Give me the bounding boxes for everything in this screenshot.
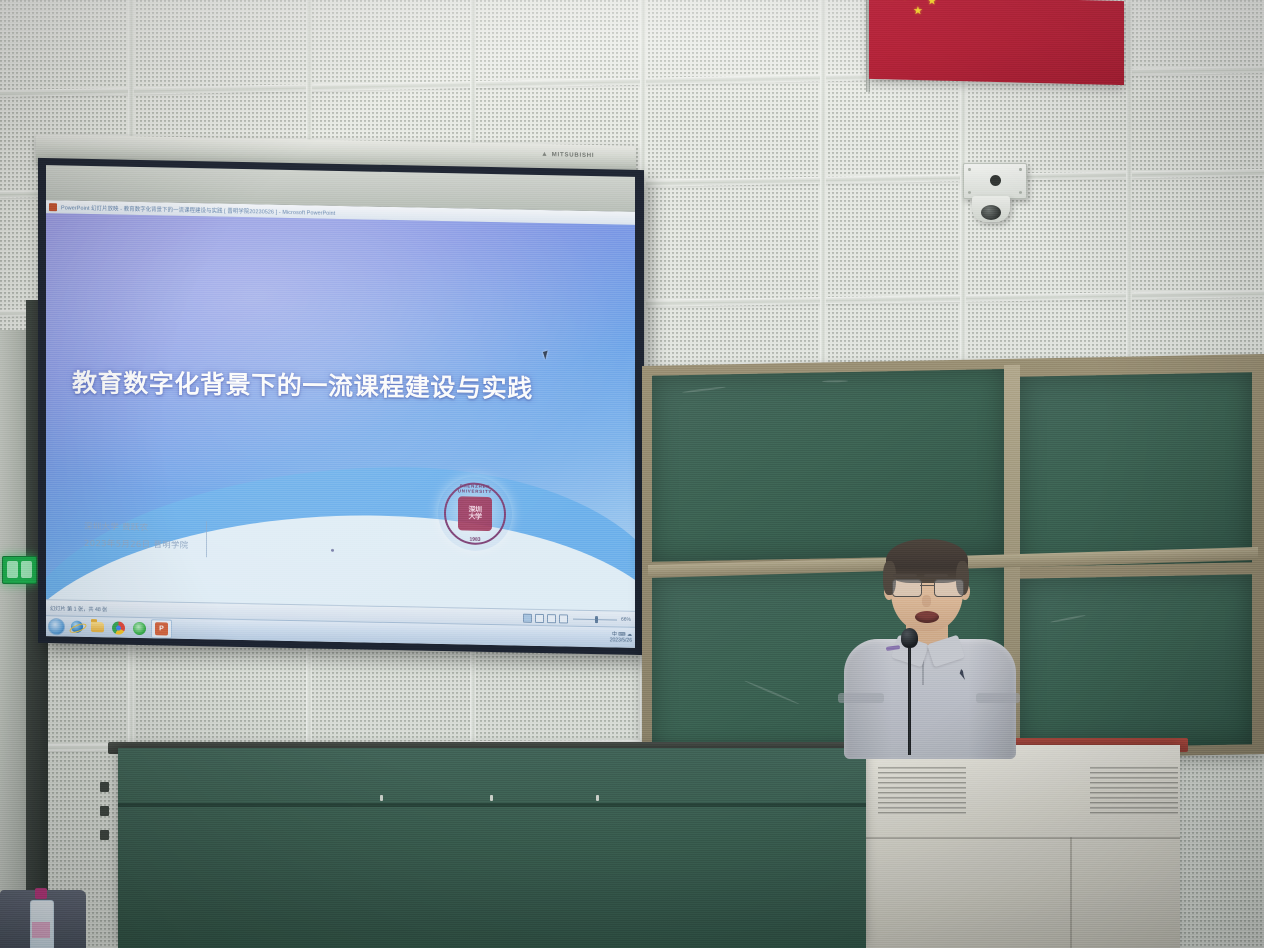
byline-divider xyxy=(206,521,207,557)
emergency-exit-sign xyxy=(2,556,37,584)
projection-screen: PowerPoint 幻灯片放映 - 教育数字化背景下的一流课程建设与实践 [ … xyxy=(38,158,644,655)
view-button-normal[interactable] xyxy=(523,613,532,622)
powerpoint-icon xyxy=(49,203,57,211)
mitsubishi-brand-label: ▲MITSUBISHI xyxy=(541,151,594,159)
taskbar-item-internet-explorer[interactable] xyxy=(67,618,86,635)
camera-mount-bracket xyxy=(963,163,1027,199)
chinese-national-flag: ★ ★ ★ ★ ★ xyxy=(869,0,1124,85)
glasses-icon xyxy=(891,579,963,595)
shenzhen-university-seal: SHENZHEN UNIVERSITY 深圳大学 1983 xyxy=(438,476,512,551)
zoom-slider[interactable] xyxy=(573,615,617,623)
seal-center-mark: 深圳大学 xyxy=(458,496,492,531)
taskbar-item-powerpoint[interactable]: P xyxy=(151,619,172,638)
flag-small-star-3: ★ xyxy=(927,0,937,8)
seal-ring-text: SHENZHEN UNIVERSITY xyxy=(446,483,504,494)
chrome-icon xyxy=(112,621,125,634)
presenter-sleeve-right xyxy=(976,693,1020,703)
presenter xyxy=(836,543,1022,758)
water-bottle-foreground xyxy=(30,888,52,948)
byline-date-venue: 2023年5月26日 晋明学院 xyxy=(84,534,189,552)
seal-outer-ring: SHENZHEN UNIVERSITY 深圳大学 1983 xyxy=(444,482,506,545)
dome-security-camera xyxy=(972,196,1010,222)
glasses-lens-right xyxy=(934,579,964,597)
chalkboard-panel-top-left xyxy=(652,369,1004,562)
bottle-cap xyxy=(35,888,47,899)
podium-speaker-grille-left xyxy=(878,767,966,815)
presenter-sleeve-left xyxy=(838,693,884,703)
podium-panel-edge xyxy=(1070,837,1072,948)
podium-speaker-grille-right xyxy=(1090,767,1178,815)
flag-large-star: ★ xyxy=(885,0,912,6)
start-button[interactable] xyxy=(48,618,65,635)
projected-desktop: PowerPoint 幻灯片放映 - 教育数字化背景下的一流课程建设与实践 [ … xyxy=(46,200,635,648)
camera-lens-icon xyxy=(990,175,1001,186)
lecture-hall-photo: ★ ★ ★ ★ ★ ▲MITSUBISHI PowerPoint 幻灯片 xyxy=(0,0,1264,948)
taskbar-item-chrome[interactable] xyxy=(109,619,128,636)
edge-icon xyxy=(133,621,146,634)
folder-icon xyxy=(91,622,104,632)
byline-affiliation: 深圳大学 费跃农 xyxy=(84,518,189,536)
seal-year: 1983 xyxy=(446,536,504,543)
front-desk-band xyxy=(118,803,866,807)
view-button-reading[interactable] xyxy=(547,614,556,623)
mitsubishi-logo-icon: ▲ xyxy=(541,151,549,158)
presenter-eyebrow-left xyxy=(893,574,917,577)
taskbar-item-edge[interactable] xyxy=(130,619,149,636)
presenter-nose xyxy=(922,595,931,607)
slide-canvas[interactable]: 教育数字化背景下的一流课程建设与实践 SHENZHEN UNIVERSITY 深… xyxy=(46,213,635,612)
slide-byline: 深圳大学 费跃农 2023年5月26日 晋明学院 xyxy=(84,518,189,553)
zoom-slider-knob[interactable] xyxy=(595,616,598,623)
podium-seam xyxy=(858,837,1180,839)
slide-dust-speck xyxy=(331,549,334,552)
flag-small-star-4: ★ xyxy=(913,6,923,17)
bottle-label xyxy=(32,922,50,938)
camera-dome-bulb xyxy=(981,205,1001,220)
microphone-icon xyxy=(901,628,918,648)
glasses-lens-left xyxy=(892,579,922,597)
system-tray[interactable]: 中 ⌨ ☁ 2023/5/26 xyxy=(610,631,632,644)
podium xyxy=(858,745,1180,948)
microphone-stand xyxy=(908,637,911,755)
chalkboard-panel-bottom-right xyxy=(1020,574,1252,748)
front-desk-panel xyxy=(118,748,866,948)
zoom-level-label: 66% xyxy=(621,617,631,623)
presenter-mouth xyxy=(915,611,939,623)
internet-explorer-icon xyxy=(71,621,83,633)
chalkboard-panel-top-right xyxy=(1020,372,1252,566)
taskbar-item-folder[interactable] xyxy=(88,618,107,635)
slide-title: 教育数字化背景下的一流课程建设与实践 xyxy=(72,363,533,405)
powerpoint-icon: P xyxy=(155,622,168,635)
presenter-eyebrow-right xyxy=(924,574,948,577)
view-button-slideshow[interactable] xyxy=(559,614,568,623)
view-button-sorter[interactable] xyxy=(535,613,544,622)
tray-date: 2023/5/26 xyxy=(610,637,632,643)
glasses-bridge xyxy=(920,585,934,586)
